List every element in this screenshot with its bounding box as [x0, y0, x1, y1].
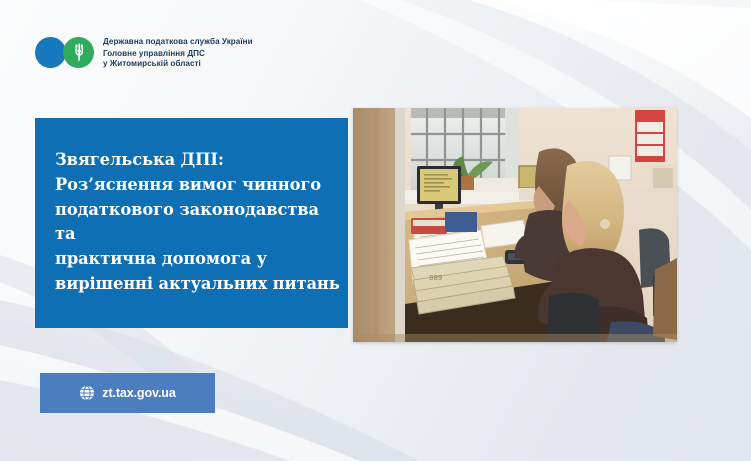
svg-text:889: 889 [429, 274, 442, 282]
globe-icon [79, 385, 95, 401]
green-circle-icon [63, 37, 94, 68]
headline-text: Звягельська ДПІ: Роз’яснення вимог чинно… [55, 148, 340, 297]
office-consultation-photo: 889 [353, 108, 677, 342]
blue-circle-icon [35, 37, 66, 68]
website-url-badge[interactable]: zt.tax.gov.ua [40, 373, 215, 413]
organisation-logo-block: Державна податкова служба України Головн… [35, 36, 253, 69]
org-line-1: Державна податкова служба України [103, 37, 253, 47]
organisation-name: Державна податкова служба України Головн… [103, 36, 253, 69]
headline-panel: Звягельська ДПІ: Роз’яснення вимог чинно… [35, 118, 348, 328]
tax-service-banner: Державна податкова служба України Головн… [0, 0, 751, 461]
org-line-3: у Житомирській області [103, 59, 253, 69]
logo-mark [35, 37, 94, 68]
org-line-2: Головне управління ДПС [103, 49, 253, 59]
url-text: zt.tax.gov.ua [102, 386, 175, 400]
ukrainian-trident-icon [71, 43, 86, 61]
